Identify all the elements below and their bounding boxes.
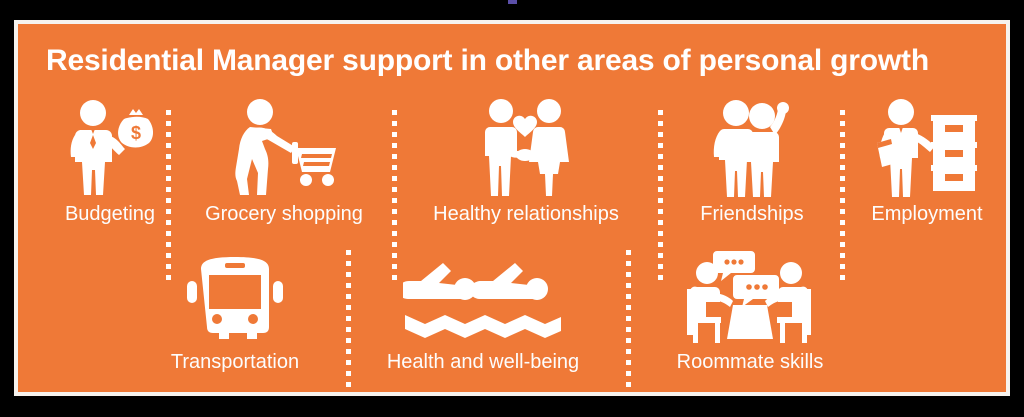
support-item-label: Health and well-being [360,351,606,373]
support-item-label: Employment [852,203,1002,225]
support-item-label: Roommate skills [640,351,860,373]
support-item-label: Friendships [672,203,832,225]
divider-dotted-6 [626,250,631,392]
two-swimmers-water-icon [360,240,606,345]
person-with-briefcase-shelves-icon [852,92,1002,197]
support-item-label: Transportation [140,351,330,373]
support-item-label: Healthy relationships [406,203,646,225]
infographic-canvas: Residential Manager support in other are… [0,0,1024,417]
support-areas-row-2: Transportation [18,240,1006,385]
page-title: Residential Manager support in other are… [46,44,986,78]
bus-icon [140,240,330,345]
support-item-transportation[interactable]: Transportation [140,240,330,373]
support-item-employment[interactable]: Employment [852,92,1002,225]
support-item-health-and-well-being[interactable]: Health and well-being [360,240,606,373]
support-item-healthy-relationships[interactable]: Healthy relationships [406,92,646,225]
orange-panel: Residential Manager support in other are… [18,24,1006,392]
couple-holding-hands-heart-icon [406,92,646,197]
support-item-friendships[interactable]: Friendships [672,92,832,225]
two-friends-waving-icon [672,92,832,197]
support-areas-row-1: $ Budgeting [18,92,1006,232]
top-edge-marker [508,0,517,4]
support-item-label: Grocery shopping [184,203,384,225]
person-pushing-shopping-cart-icon [184,92,384,197]
support-item-grocery-shopping[interactable]: Grocery shopping [184,92,384,225]
divider-dotted-5 [346,250,351,392]
two-people-table-speech-bubbles-icon [640,240,860,345]
svg-text:$: $ [131,123,141,143]
support-item-roommate-skills[interactable]: Roommate skills [640,240,860,373]
